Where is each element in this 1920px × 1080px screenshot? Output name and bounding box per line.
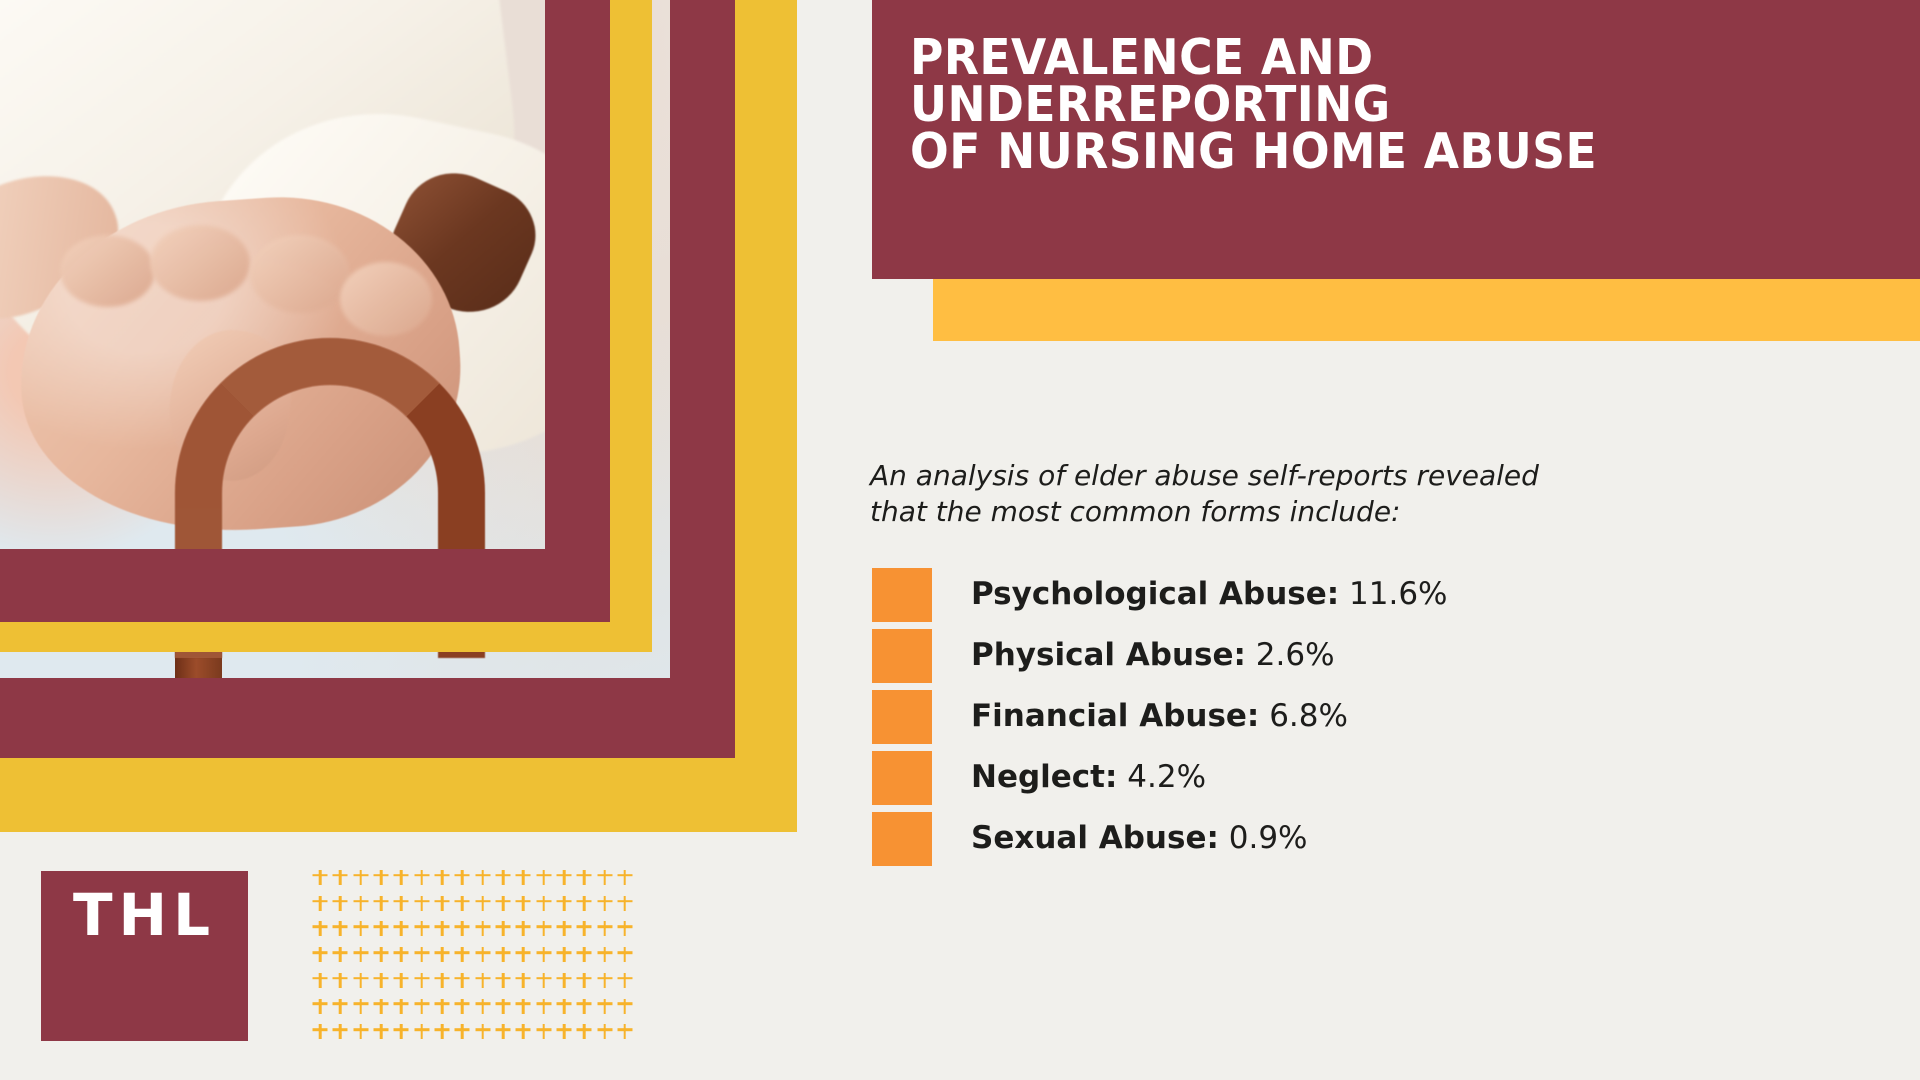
plus-icon [594, 1020, 614, 1046]
title-accent-bar [933, 279, 1920, 341]
frame-bar-yellow-bottom [0, 622, 652, 652]
plus-icon [310, 1020, 330, 1046]
plus-icon [574, 969, 594, 995]
plus-icon [351, 943, 371, 969]
plus-icon [351, 866, 371, 892]
plus-icon [371, 892, 391, 918]
list-item-text: Neglect: 4.2% [971, 748, 1206, 806]
plus-icon [310, 892, 330, 918]
plus-icon [391, 969, 411, 995]
list-item-value: 0.9% [1229, 820, 1308, 856]
divider-yellow-vertical [735, 0, 797, 832]
plus-icon [351, 917, 371, 943]
photo-knuckle [340, 262, 432, 336]
plus-icon [473, 892, 493, 918]
plus-icon [330, 866, 350, 892]
plus-icon [533, 1020, 553, 1046]
photo-knuckle [60, 235, 155, 307]
plus-icon [452, 969, 472, 995]
plus-icon [513, 995, 533, 1021]
plus-icon [473, 866, 493, 892]
page-title: PREVALENCE AND UNDERREPORTING OF NURSING… [910, 34, 1821, 175]
plus-icon [533, 892, 553, 918]
abuse-type-list: Psychological Abuse: 11.6% Physical Abus… [872, 565, 1772, 870]
plus-pattern-decoration [310, 866, 635, 1046]
plus-icon [513, 917, 533, 943]
plus-icon [330, 969, 350, 995]
plus-icon [351, 892, 371, 918]
title-banner: PREVALENCE AND UNDERREPORTING OF NURSING… [872, 0, 1920, 279]
list-item-text: Psychological Abuse: 11.6% [971, 565, 1448, 623]
plus-icon [594, 969, 614, 995]
plus-icon [412, 866, 432, 892]
list-item-text: Financial Abuse: 6.8% [971, 687, 1348, 745]
plus-icon [391, 943, 411, 969]
plus-icon [391, 892, 411, 918]
plus-icon [594, 866, 614, 892]
plus-icon [391, 866, 411, 892]
plus-icon [615, 995, 635, 1021]
plus-icon [310, 969, 330, 995]
divider-maroon-horizontal [0, 678, 735, 758]
list-item-label: Financial Abuse: [971, 698, 1259, 734]
plus-icon [371, 1020, 391, 1046]
plus-icon [330, 917, 350, 943]
plus-icon [473, 943, 493, 969]
plus-icon [452, 866, 472, 892]
plus-icon [473, 995, 493, 1021]
plus-icon [513, 1020, 533, 1046]
plus-icon [554, 917, 574, 943]
plus-icon [310, 995, 330, 1021]
bullet-square-icon [872, 690, 932, 744]
plus-icon [513, 892, 533, 918]
plus-icon [330, 1020, 350, 1046]
plus-icon [432, 1020, 452, 1046]
list-item: Financial Abuse: 6.8% [872, 687, 1772, 748]
plus-icon [493, 943, 513, 969]
list-item-label: Physical Abuse: [971, 637, 1246, 673]
intro-paragraph: An analysis of elder abuse self-reports … [870, 458, 1770, 530]
plus-icon [554, 995, 574, 1021]
brand-logo: THL [41, 871, 248, 1041]
infographic-canvas: PREVALENCE AND UNDERREPORTING OF NURSING… [0, 0, 1920, 1080]
plus-icon [554, 892, 574, 918]
list-item-label: Sexual Abuse: [971, 820, 1219, 856]
plus-icon [310, 943, 330, 969]
bullet-square-icon [872, 751, 932, 805]
plus-icon [452, 995, 472, 1021]
list-item: Neglect: 4.2% [872, 748, 1772, 809]
plus-icon [432, 995, 452, 1021]
plus-icon [371, 969, 391, 995]
plus-icon [513, 866, 533, 892]
plus-icon [493, 995, 513, 1021]
plus-icon [533, 917, 553, 943]
plus-icon [533, 866, 553, 892]
plus-icon [473, 969, 493, 995]
plus-icon [493, 892, 513, 918]
plus-icon [615, 917, 635, 943]
plus-icon [554, 1020, 574, 1046]
plus-icon [615, 943, 635, 969]
photo-knuckle [250, 235, 350, 313]
plus-icon [493, 866, 513, 892]
plus-icon [432, 943, 452, 969]
list-item-label: Psychological Abuse: [971, 576, 1339, 612]
plus-icon [371, 943, 391, 969]
plus-icon [554, 943, 574, 969]
list-item-value: 4.2% [1127, 759, 1206, 795]
plus-icon [412, 1020, 432, 1046]
plus-icon [351, 969, 371, 995]
plus-icon [493, 1020, 513, 1046]
frame-bar-yellow-right [610, 0, 652, 652]
list-item-label: Neglect: [971, 759, 1117, 795]
divider-yellow-horizontal [0, 758, 735, 832]
plus-icon [473, 1020, 493, 1046]
plus-icon [412, 995, 432, 1021]
plus-icon [330, 892, 350, 918]
plus-icon [513, 969, 533, 995]
plus-icon [533, 969, 553, 995]
plus-icon [452, 917, 472, 943]
plus-icon [574, 1020, 594, 1046]
plus-icon [391, 1020, 411, 1046]
plus-icon [351, 1020, 371, 1046]
plus-icon [615, 892, 635, 918]
divider-maroon-vertical [670, 0, 735, 678]
plus-icon [391, 995, 411, 1021]
plus-icon [594, 892, 614, 918]
plus-icon [452, 943, 472, 969]
list-item-value: 2.6% [1256, 637, 1335, 673]
plus-icon [310, 917, 330, 943]
plus-icon [493, 969, 513, 995]
list-item: Physical Abuse: 2.6% [872, 626, 1772, 687]
plus-icon [533, 943, 553, 969]
plus-icon [615, 969, 635, 995]
plus-icon [310, 866, 330, 892]
frame-bar-maroon-bottom [0, 549, 610, 622]
list-item-value: 6.8% [1269, 698, 1348, 734]
plus-icon [432, 917, 452, 943]
plus-icon [432, 969, 452, 995]
plus-icon [412, 969, 432, 995]
list-item-value: 11.6% [1349, 576, 1447, 612]
plus-icon [574, 866, 594, 892]
plus-icon [574, 892, 594, 918]
list-item-text: Sexual Abuse: 0.9% [971, 809, 1308, 867]
list-item: Sexual Abuse: 0.9% [872, 809, 1772, 870]
plus-icon [473, 917, 493, 943]
bullet-square-icon [872, 629, 932, 683]
list-item: Psychological Abuse: 11.6% [872, 565, 1772, 626]
bullet-square-icon [872, 568, 932, 622]
plus-icon [594, 943, 614, 969]
plus-icon [391, 917, 411, 943]
plus-icon [371, 866, 391, 892]
photo-knuckle [150, 225, 250, 301]
plus-icon [452, 892, 472, 918]
plus-icon [371, 995, 391, 1021]
plus-icon [594, 995, 614, 1021]
plus-icon [452, 1020, 472, 1046]
plus-icon [371, 917, 391, 943]
plus-icon [412, 892, 432, 918]
plus-icon [493, 917, 513, 943]
bullet-square-icon [872, 812, 932, 866]
plus-icon [594, 917, 614, 943]
plus-icon [330, 995, 350, 1021]
plus-icon [574, 943, 594, 969]
frame-bar-maroon-right [545, 0, 610, 622]
plus-icon [351, 995, 371, 1021]
plus-icon [432, 892, 452, 918]
plus-icon [554, 866, 574, 892]
plus-icon [432, 866, 452, 892]
list-item-text: Physical Abuse: 2.6% [971, 626, 1335, 684]
plus-icon [615, 866, 635, 892]
plus-icon [330, 943, 350, 969]
plus-icon [412, 917, 432, 943]
plus-icon [513, 943, 533, 969]
plus-icon [412, 943, 432, 969]
plus-icon [574, 917, 594, 943]
plus-icon [533, 995, 553, 1021]
brand-logo-text: THL [41, 886, 248, 944]
plus-icon [574, 995, 594, 1021]
plus-icon [615, 1020, 635, 1046]
plus-icon [554, 969, 574, 995]
